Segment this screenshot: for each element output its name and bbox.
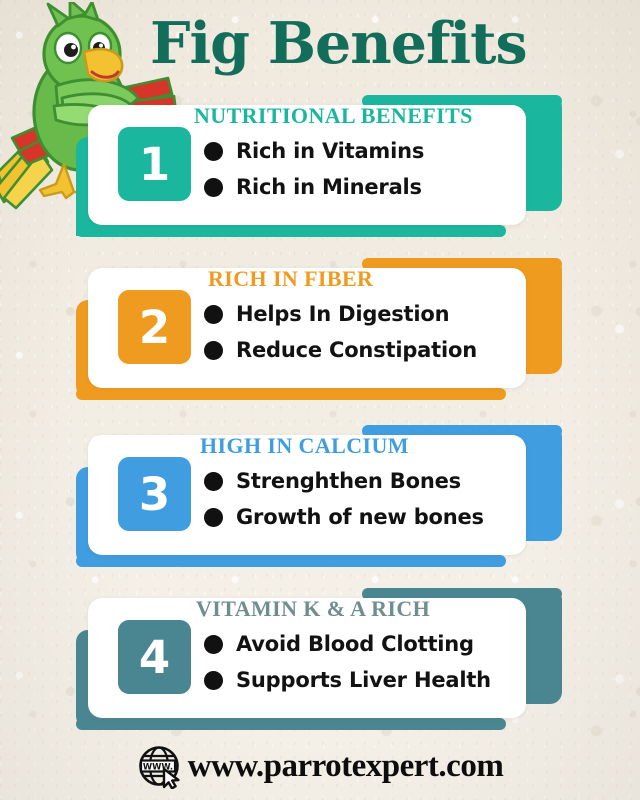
card-1-number-badge: 1 <box>118 127 191 201</box>
card-1-heading: NUTRITIONAL BENEFITS <box>194 103 473 129</box>
footer-bar: WWW. www.parrotexpert.com <box>0 735 640 797</box>
card-4-bullet-item-1: Avoid Blood Clotting <box>204 626 491 662</box>
card-3-number-badge: 3 <box>118 457 191 531</box>
card-4-bullet-text-2: Supports Liver Health <box>236 668 491 692</box>
card-1-bullet-list: Rich in Vitamins Rich in Minerals <box>204 133 424 205</box>
benefit-card-4: 4 VITAMIN K & A RICH Avoid Blood Clottin… <box>0 588 640 733</box>
card-3-bullet-item-1: Strenghthen Bones <box>204 463 484 499</box>
page-title: Fig Benefits <box>150 14 630 74</box>
card-1-bullet-text-1: Rich in Vitamins <box>236 139 424 163</box>
card-2-bracket-bottom <box>76 388 506 400</box>
bullet-dot-icon <box>204 178 223 197</box>
benefit-card-2: 2 RICH IN FIBER Helps In Digestion Reduc… <box>0 258 640 403</box>
bullet-dot-icon <box>204 472 223 491</box>
card-1-bullet-text-2: Rich in Minerals <box>236 175 422 199</box>
card-3-bullet-text-1: Strenghthen Bones <box>236 469 461 493</box>
bullet-dot-icon <box>204 305 223 324</box>
card-2-bullet-text-2: Reduce Constipation <box>236 338 477 362</box>
card-4-heading: VITAMIN K & A RICH <box>196 596 430 622</box>
card-3-bullet-item-2: Growth of new bones <box>204 499 484 535</box>
website-url[interactable]: www.parrotexpert.com <box>188 748 504 785</box>
card-3-bracket-bottom <box>76 555 506 567</box>
globe-icon-label: WWW. <box>143 761 173 771</box>
card-2-bullet-item-1: Helps In Digestion <box>204 296 477 332</box>
benefit-card-1: 1 NUTRITIONAL BENEFITS Rich in Vitamins … <box>0 95 640 240</box>
card-1-bullet-item-1: Rich in Vitamins <box>204 133 424 169</box>
card-2-bullet-item-2: Reduce Constipation <box>204 332 477 368</box>
card-1-bullet-item-2: Rich in Minerals <box>204 169 424 205</box>
card-2-heading: RICH IN FIBER <box>208 266 373 292</box>
benefit-card-3: 3 HIGH IN CALCIUM Strenghthen Bones Grow… <box>0 425 640 570</box>
card-3-bullet-text-2: Growth of new bones <box>236 505 484 529</box>
card-2-number-badge: 2 <box>118 290 191 364</box>
bullet-dot-icon <box>204 671 223 690</box>
card-4-bullet-text-1: Avoid Blood Clotting <box>236 632 474 656</box>
bullet-dot-icon <box>204 635 223 654</box>
card-4-number-badge: 4 <box>118 620 191 694</box>
card-3-bullet-list: Strenghthen Bones Growth of new bones <box>204 463 484 535</box>
card-2-bullet-list: Helps In Digestion Reduce Constipation <box>204 296 477 368</box>
card-4-bullet-list: Avoid Blood Clotting Supports Liver Heal… <box>204 626 491 698</box>
infographic-poster: Fig Benefits <box>0 0 640 800</box>
card-2-bullet-text-1: Helps In Digestion <box>236 302 449 326</box>
card-4-bullet-item-2: Supports Liver Health <box>204 662 491 698</box>
bullet-dot-icon <box>204 508 223 527</box>
bullet-dot-icon <box>204 142 223 161</box>
card-4-bracket-bottom <box>76 718 506 730</box>
card-1-bracket-bottom <box>76 225 506 237</box>
bullet-dot-icon <box>204 341 223 360</box>
globe-www-cursor-icon: WWW. <box>137 743 183 789</box>
card-3-heading: HIGH IN CALCIUM <box>200 433 409 459</box>
